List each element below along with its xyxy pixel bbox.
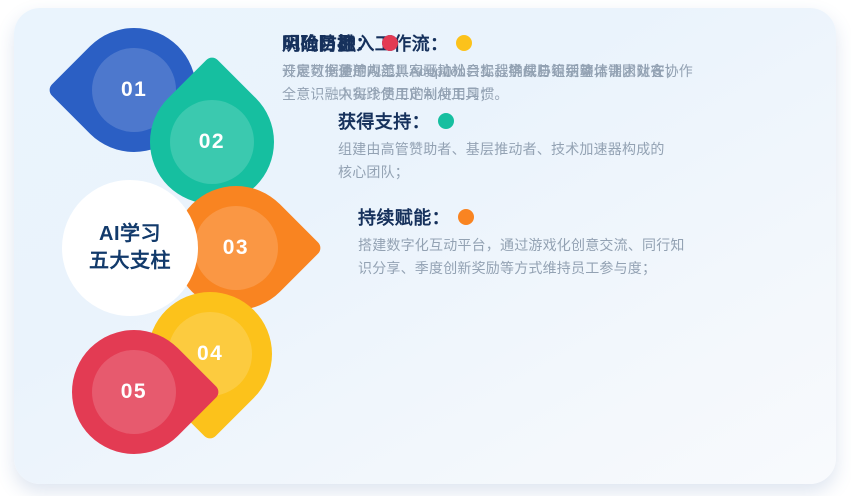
pillar-item-5-title: 风险防控： bbox=[282, 30, 374, 56]
pillar-item-3: 持续赋能： 搭建数字化互动平台，通过游戏化创意交流、同行知 识分享、季度创新奖励… bbox=[358, 204, 685, 279]
petal-number-04: 04 bbox=[197, 342, 223, 366]
pillar-item-2-description: 组建由高管赞助者、基层推动者、技术加速器构成的 核心团队； bbox=[338, 138, 665, 183]
pillar-item-5: 风险防控： 开展数据使用规范、AI驱动社会工程学威胁识别等培训，让安 全意识融入… bbox=[282, 30, 665, 105]
pillar-item-5-header: 风险防控： bbox=[282, 30, 665, 56]
pillar-flower-diagram: 01 02 03 04 05 AI学习 五大支柱 bbox=[56, 20, 296, 472]
pillar-item-2-title: 获得支持： bbox=[338, 108, 430, 134]
pillar-dot-icon-2 bbox=[438, 113, 454, 129]
pillar-dot-icon-5 bbox=[382, 35, 398, 51]
pillar-dot-icon-3 bbox=[458, 209, 474, 225]
petal-number-05: 05 bbox=[121, 380, 147, 404]
pillar-item-5-description: 开展数据使用规范、AI驱动社会工程学威胁识别等培训，让安 全意识融入每个员工的A… bbox=[282, 60, 665, 105]
petal-number-03: 03 bbox=[223, 236, 249, 260]
center-title-line-1: AI学习 bbox=[99, 221, 161, 248]
pillar-item-2: 获得支持： 组建由高管赞助者、基层推动者、技术加速器构成的 核心团队； bbox=[338, 108, 665, 183]
petal-number-01: 01 bbox=[121, 78, 147, 102]
petal-number-02: 02 bbox=[199, 130, 225, 154]
center-hub: AI学习 五大支柱 bbox=[62, 180, 198, 316]
infographic-root: 01 02 03 04 05 AI学习 五大支柱 bbox=[0, 0, 851, 496]
pillar-item-2-header: 获得支持： bbox=[338, 108, 665, 134]
pillar-item-3-title: 持续赋能： bbox=[358, 204, 450, 230]
center-title-line-2: 五大支柱 bbox=[89, 248, 171, 275]
pillar-list: 明确目标： 设定可衡量的AI工具Adoption目标，确保与组织整体需求对齐； … bbox=[282, 30, 828, 480]
pillar-item-3-description: 搭建数字化互动平台，通过游戏化创意交流、同行知 识分享、季度创新奖励等方式维持员… bbox=[358, 234, 685, 279]
pillar-item-3-header: 持续赋能： bbox=[358, 204, 685, 230]
infographic-card: 01 02 03 04 05 AI学习 五大支柱 bbox=[14, 8, 836, 484]
